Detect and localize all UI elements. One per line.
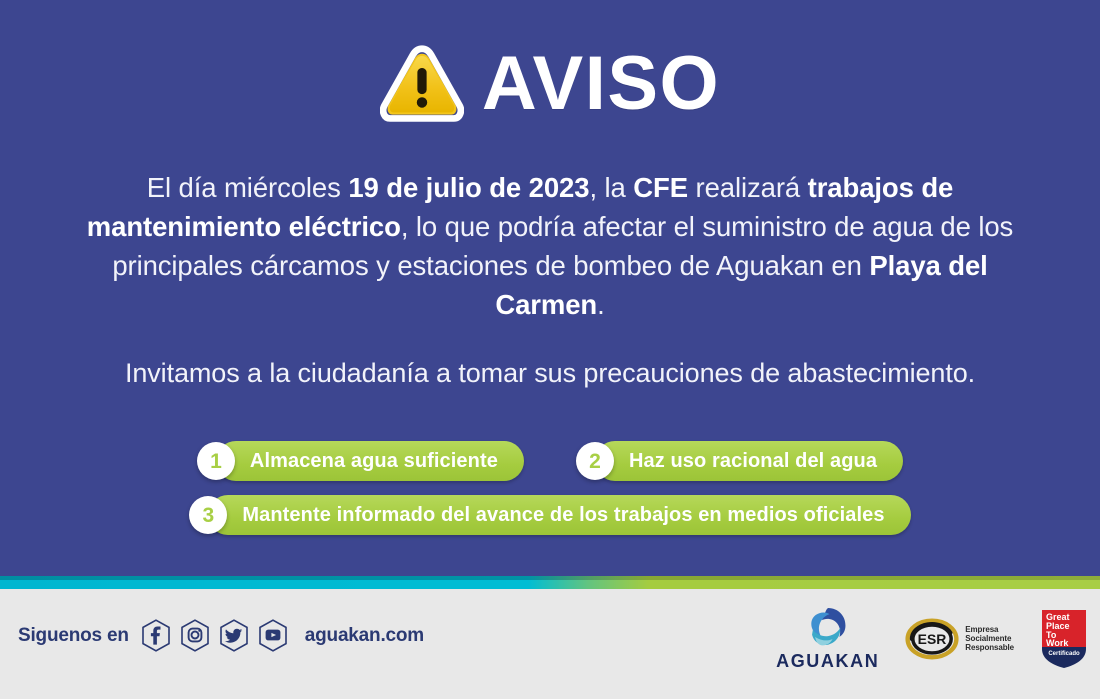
follow-label: Siguenos en	[18, 625, 129, 647]
aguakan-wave-logo-icon	[805, 605, 851, 649]
esr-seal-icon: ESR	[905, 617, 959, 661]
tip-label-3: Mantente informado del avance de los tra…	[208, 495, 910, 535]
gptw-line-5: Certificado	[1048, 651, 1080, 657]
esr-line-3: Responsable	[965, 643, 1014, 652]
youtube-icon[interactable]	[258, 619, 288, 652]
notice-paragraph: El día miércoles 19 de julio de 2023, la…	[58, 168, 1042, 324]
page-title: AVISO	[482, 46, 720, 122]
footer-logos: AGUAKAN ESR Empresa Socialmente Responsa…	[776, 605, 1088, 672]
tip-label-2: Haz uso racional del agua	[595, 441, 903, 481]
tip-item-3: 3 Mantente informado del avance de los t…	[189, 494, 910, 536]
gradient-divider	[0, 576, 1100, 589]
facebook-icon[interactable]	[141, 619, 171, 652]
notice-run-8: .	[597, 289, 605, 320]
tips-list: 1 Almacena agua suficiente 2 Haz uso rac…	[0, 440, 1100, 536]
notice-run-2: , la	[589, 172, 633, 203]
aguakan-wordmark: AGUAKAN	[776, 651, 879, 672]
notice-run-4: realizará	[688, 172, 808, 203]
esr-caption: Empresa Socialmente Responsable	[965, 625, 1014, 652]
esr-seal-text: ESR	[918, 631, 947, 647]
esr-line-2: Socialmente	[965, 634, 1014, 643]
poster-footer: Siguenos en aguakan.com	[0, 589, 1100, 699]
notice-run-0: El día miércoles	[147, 172, 349, 203]
website-link[interactable]: aguakan.com	[305, 625, 424, 647]
tips-row-top: 1 Almacena agua suficiente 2 Haz uso rac…	[0, 440, 1100, 482]
esr-badge: ESR Empresa Socialmente Responsable	[905, 617, 1014, 661]
invitation-text: Invitamos a la ciudadanía a tomar sus pr…	[48, 355, 1052, 391]
instagram-icon[interactable]	[180, 619, 210, 652]
esr-line-1: Empresa	[965, 625, 1014, 634]
great-place-to-work-badge: Great Place To Work Certificado	[1040, 609, 1088, 669]
tips-row-bottom: 3 Mantente informado del avance de los t…	[0, 494, 1100, 536]
tip-badge-1: 1	[197, 442, 235, 480]
tip-item-2: 2 Haz uso racional del agua	[576, 440, 903, 482]
tip-label-1: Almacena agua suficiente	[216, 441, 524, 481]
warning-triangle-icon	[380, 45, 464, 123]
tip-item-1: 1 Almacena agua suficiente	[197, 440, 524, 482]
notice-run-3: CFE	[633, 172, 688, 203]
aviso-poster: AVISO El día miércoles 19 de julio de 20…	[0, 0, 1100, 699]
aguakan-logo: AGUAKAN	[776, 605, 879, 672]
poster-header: AVISO	[0, 28, 1100, 140]
tip-badge-2: 2	[576, 442, 614, 480]
twitter-icon[interactable]	[219, 619, 249, 652]
social-bar: Siguenos en aguakan.com	[18, 619, 424, 652]
gptw-line-4: Work	[1046, 638, 1069, 648]
notice-run-1: 19 de julio de 2023	[348, 172, 589, 203]
